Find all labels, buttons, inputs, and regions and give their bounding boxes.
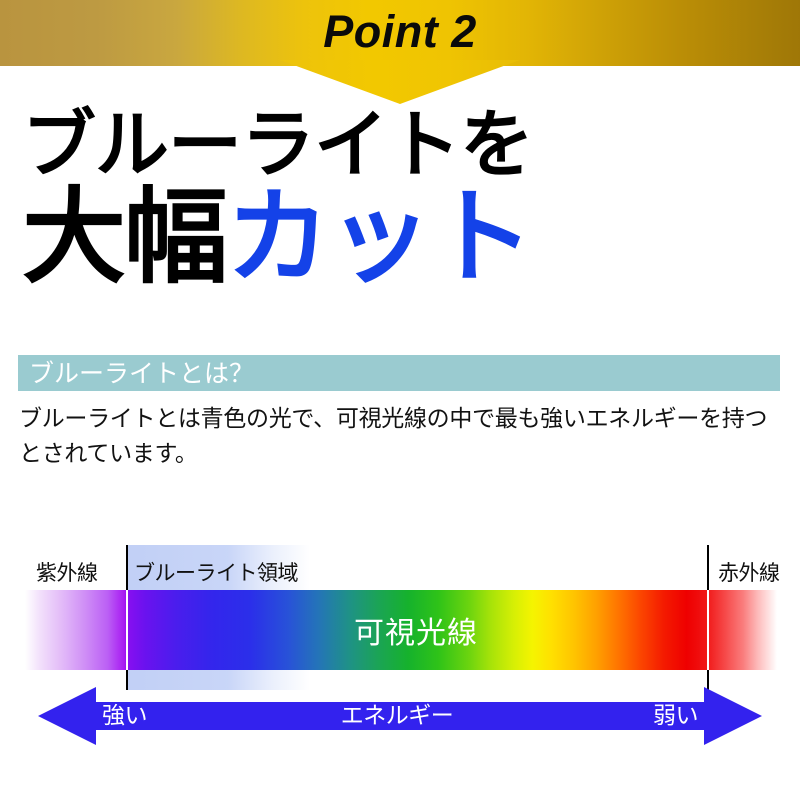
spectrum-gradient-bar: 可視光線 [25, 590, 777, 670]
energy-arrow: 強い エネルギー 弱い [38, 685, 762, 747]
section-header-bar: ブルーライトとは？ [18, 355, 780, 391]
poster-root: Point 2 ブルーライトを 大幅カット ブルーライトとは？ ブルーライトとは… [0, 0, 800, 800]
section-body-text: ブルーライトとは青色の光で、可視光線の中で最も強いエネルギーを持つとされています… [19, 402, 779, 472]
double-arrow-icon [38, 685, 762, 747]
banner-chevron-icon [280, 60, 520, 104]
headline-line-1: ブルーライトを [22, 108, 782, 182]
label-bluelight-region: ブルーライト領域 [134, 563, 298, 584]
label-ultraviolet: 紫外線 [36, 563, 98, 584]
headline-line-2-accent: カット [226, 175, 532, 298]
label-visible-light: 可視光線 [25, 590, 777, 670]
spectrum-tick-infrared [707, 590, 709, 670]
spectrum-tick-ultraviolet [126, 590, 128, 670]
headline-line-2-black: 大幅 [22, 175, 226, 298]
headline-block: ブルーライトを 大幅カット [22, 108, 782, 290]
spectrum-diagram: 紫外線 ブルーライト領域 赤外線 可視光線 強い エネルギー 弱い [0, 545, 800, 760]
banner-title: Point 2 [0, 6, 800, 58]
header-banner: Point 2 [0, 0, 800, 104]
headline-line-2: 大幅カット [22, 184, 782, 290]
label-infrared: 赤外線 [718, 563, 780, 584]
section-header-label: ブルーライトとは？ [18, 361, 254, 386]
